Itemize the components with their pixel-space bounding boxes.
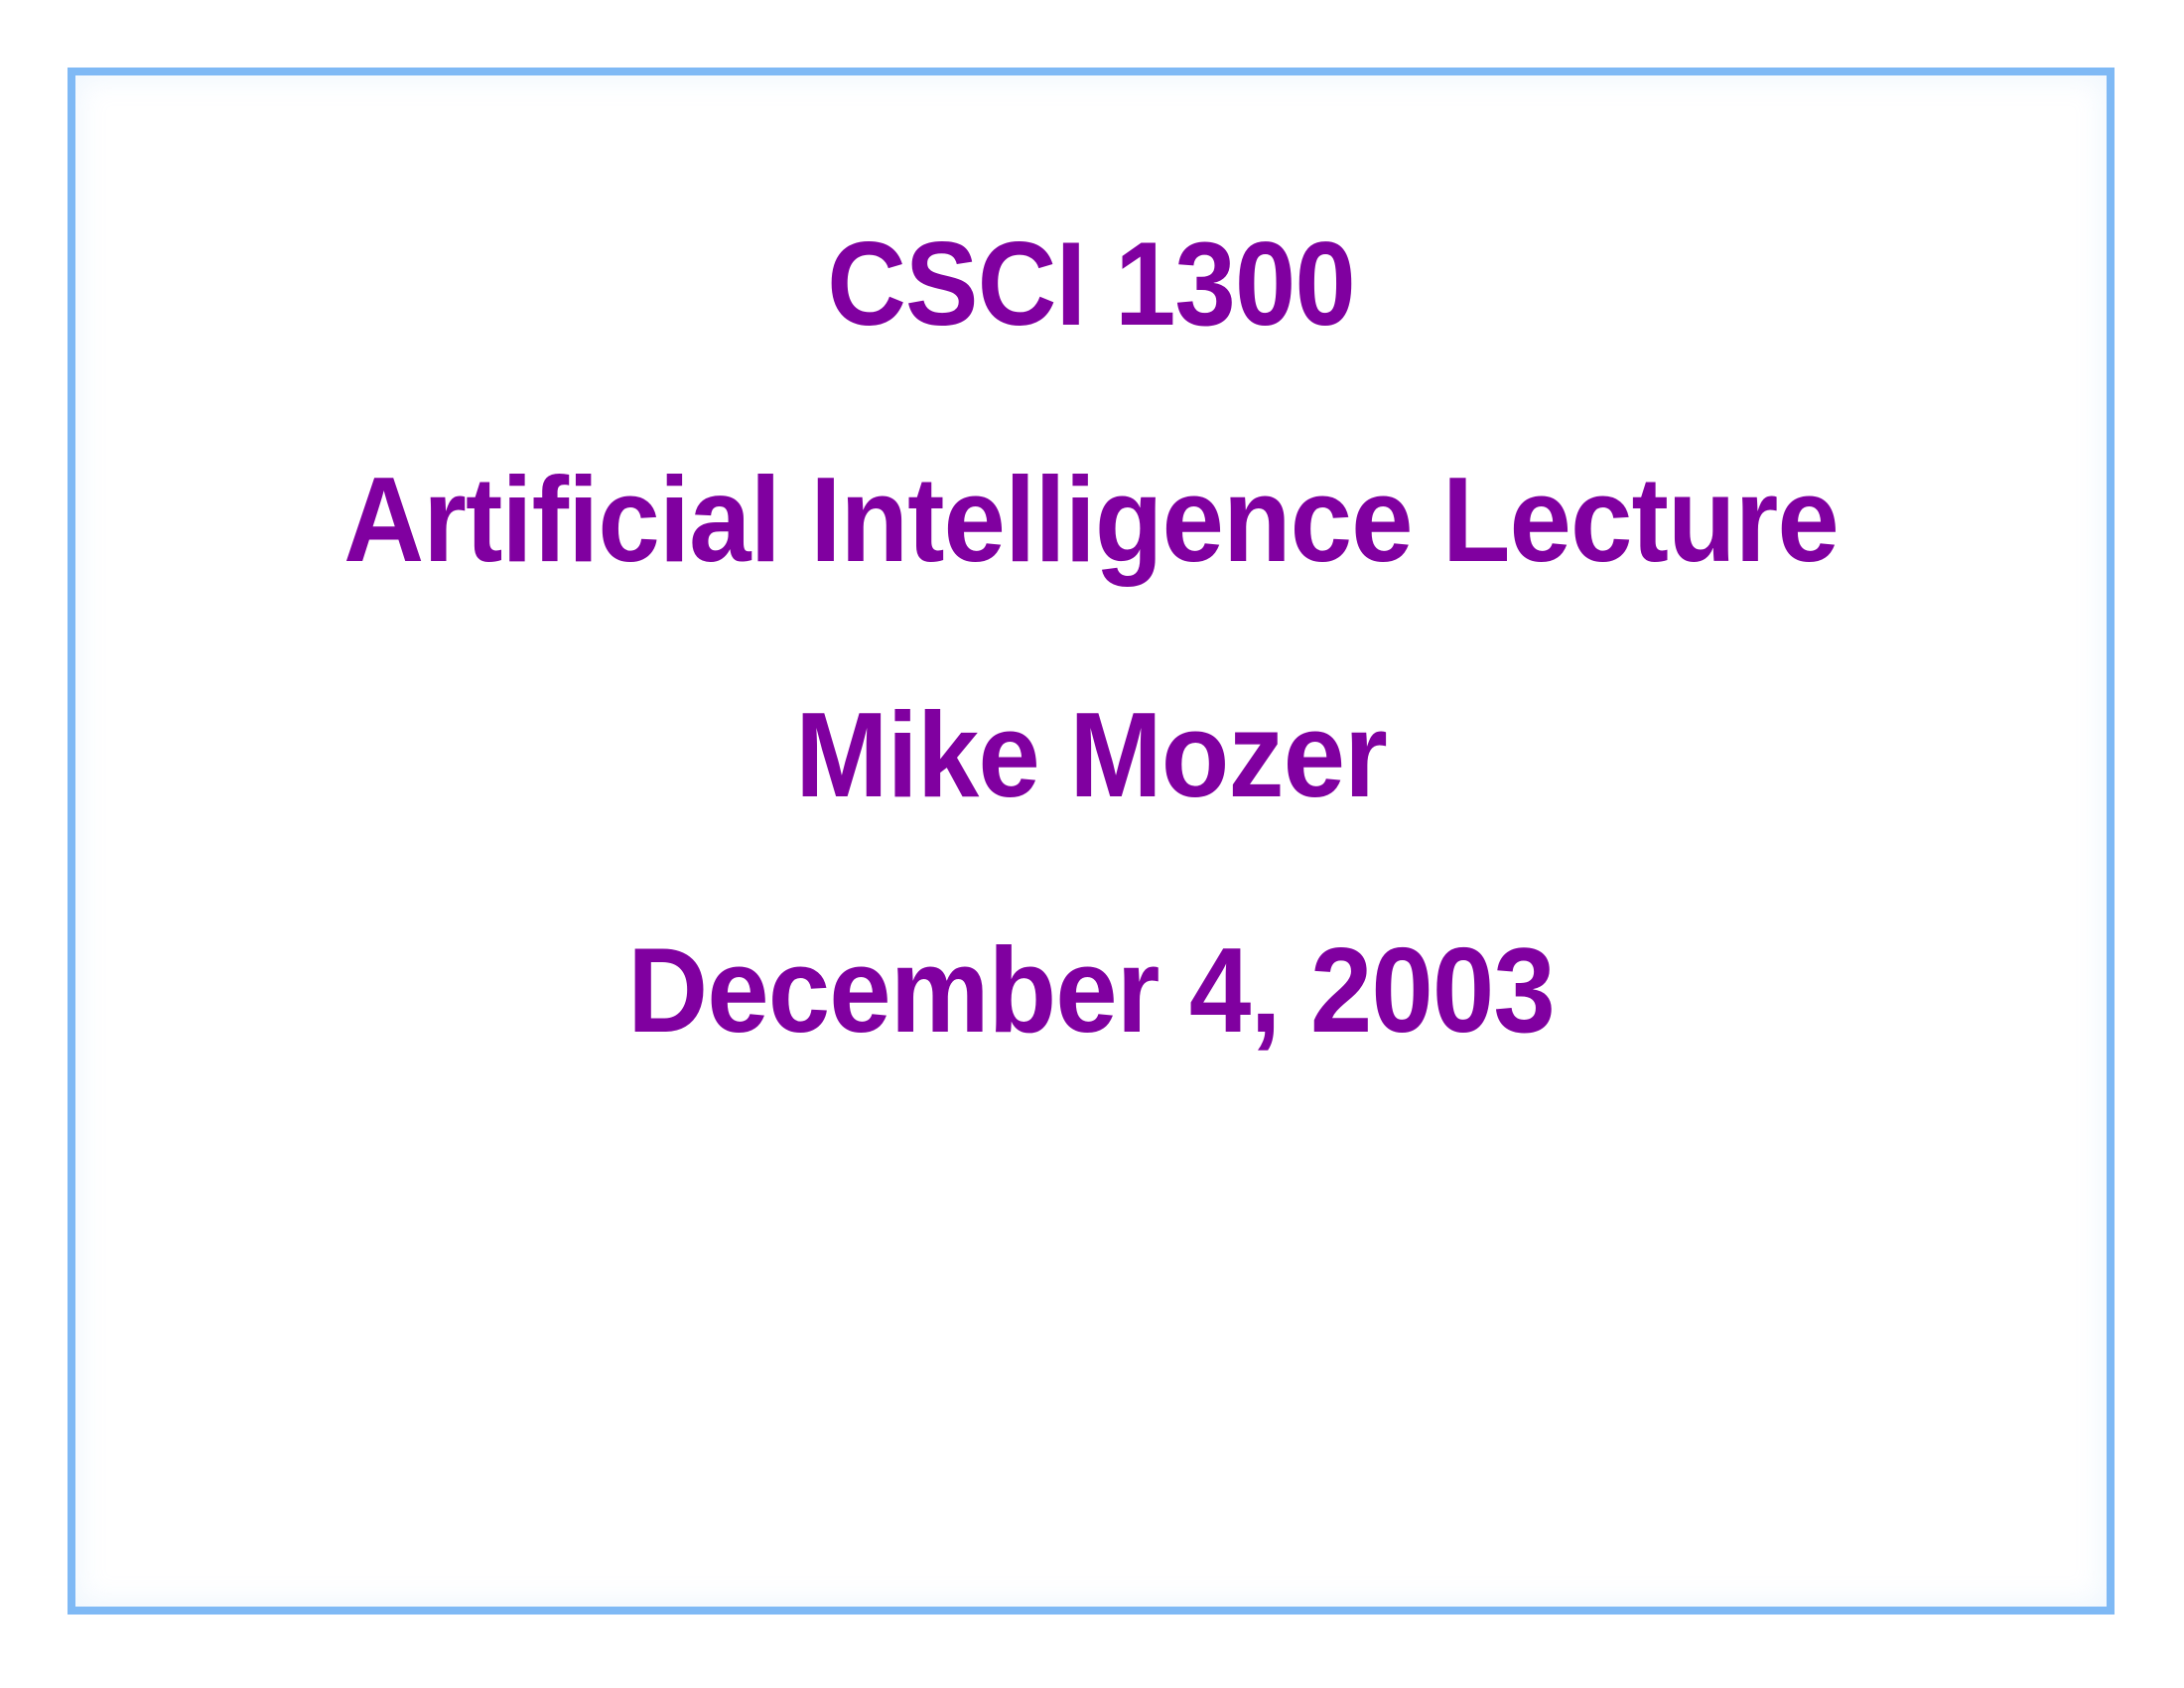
lecture-date-line: December 4, 2003 bbox=[149, 873, 2032, 1108]
course-code-line: CSCI 1300 bbox=[149, 167, 2032, 402]
slide-content-area: CSCI 1300 Artificial Intelligence Lectur… bbox=[68, 68, 2115, 1615]
slide-canvas: CSCI 1300 Artificial Intelligence Lectur… bbox=[0, 0, 2184, 1688]
presenter-name-line: Mike Mozer bbox=[149, 637, 2032, 873]
subject-title-line: Artificial Intelligence Lecture bbox=[149, 402, 2032, 637]
title-text-stack: CSCI 1300 Artificial Intelligence Lectur… bbox=[68, 167, 2115, 1108]
